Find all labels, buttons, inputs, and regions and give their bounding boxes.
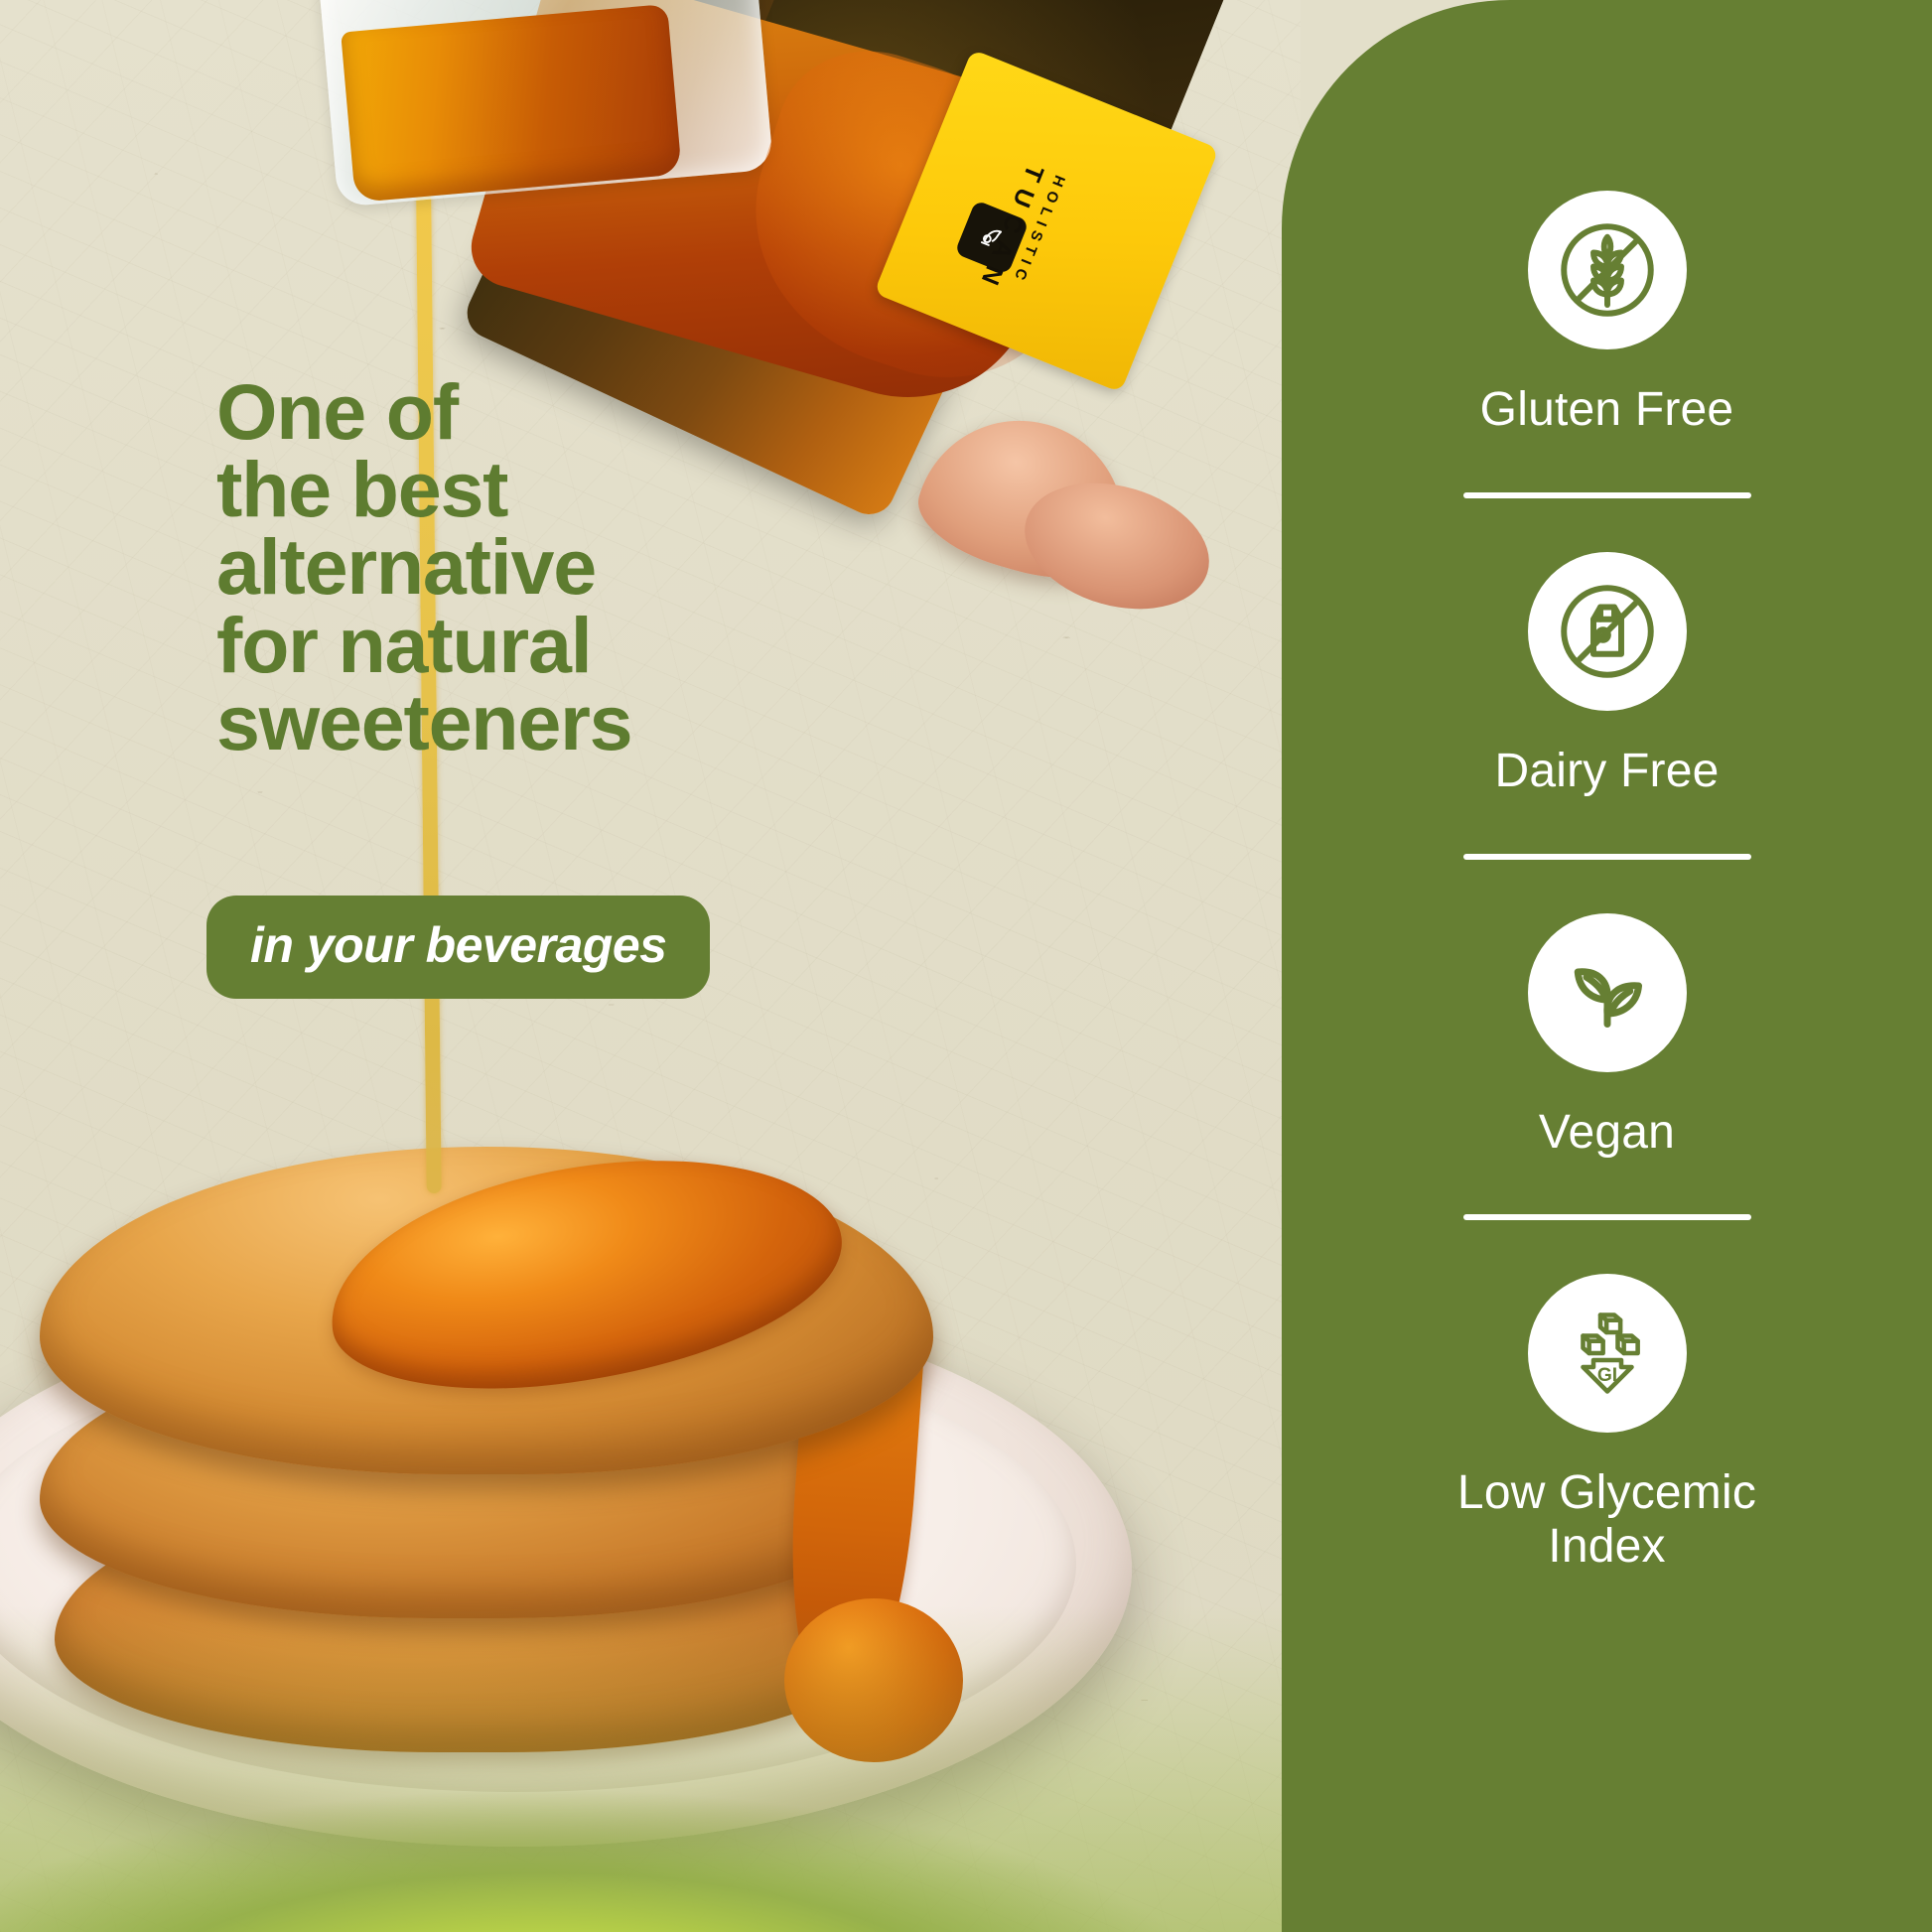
feature-gluten-free[interactable]: Gluten Free (1282, 191, 1932, 437)
subtitle-pill-label: in your beverages (250, 917, 666, 973)
headline-line-4: for natural (216, 607, 931, 684)
headline-line-5: sweeteners (216, 684, 931, 761)
svg-text:GI: GI (1596, 1365, 1616, 1386)
feature-label-gluten-free: Gluten Free (1480, 383, 1734, 437)
no-wheat-icon (1528, 191, 1687, 349)
no-milk-carton-icon (1528, 552, 1687, 711)
feature-vegan[interactable]: Vegan (1282, 913, 1932, 1160)
leaf-sprout-icon (1528, 913, 1687, 1072)
headline-line-3: alternative (216, 528, 931, 606)
syrup-blob-bottom (784, 1598, 963, 1762)
features-sidebar: Gluten Free Dairy Free (1282, 0, 1932, 1932)
feature-label-lgi-line1: Low Glycemic (1457, 1466, 1756, 1519)
feature-label-low-glycemic-index: Low Glycemic Index (1457, 1466, 1756, 1574)
feature-divider-1 (1463, 492, 1751, 498)
sugar-cubes-gi-down-arrow-icon: GI (1528, 1274, 1687, 1433)
subtitle-pill-badge: in your beverages (207, 896, 710, 999)
feature-divider-2 (1463, 854, 1751, 860)
feature-label-lgi-line2: Index (1548, 1520, 1665, 1573)
headline-line-1: One of (216, 373, 931, 451)
poster-canvas: TUCAN HOLISTIC One of the best alternati… (0, 0, 1932, 1932)
page-title: One of the best alternative for natural … (216, 373, 931, 761)
feature-label-dairy-free: Dairy Free (1494, 745, 1719, 798)
bottle-neck-syrup (341, 4, 682, 203)
feature-divider-3 (1463, 1214, 1751, 1220)
headline-line-2: the best (216, 451, 931, 528)
feature-low-glycemic-index[interactable]: GI Low Glycemic Index (1282, 1274, 1932, 1574)
feature-label-vegan: Vegan (1539, 1106, 1675, 1160)
feature-dairy-free[interactable]: Dairy Free (1282, 552, 1932, 798)
